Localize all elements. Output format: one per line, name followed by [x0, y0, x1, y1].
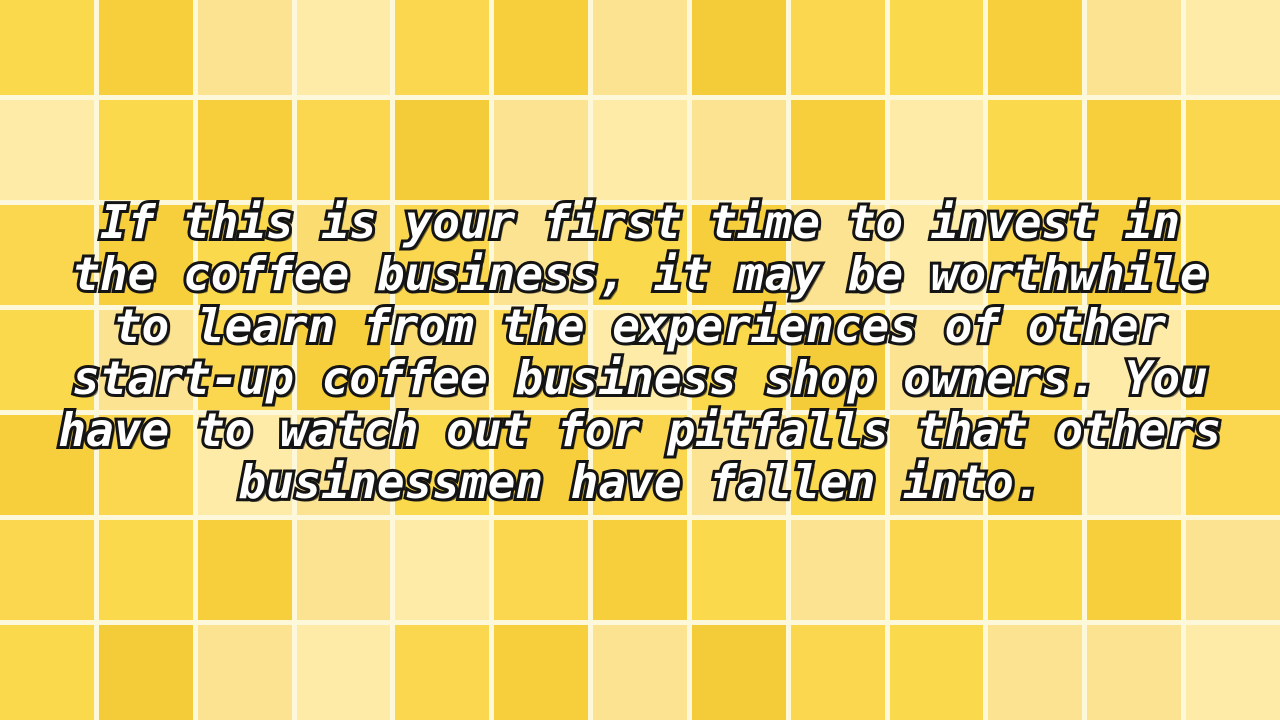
- mosaic-tile: [593, 0, 687, 95]
- mosaic-tile: [198, 0, 292, 95]
- mosaic-tile: [593, 415, 687, 515]
- mosaic-tile: [395, 625, 489, 720]
- mosaic-tile: [1186, 100, 1280, 200]
- mosaic-tile: [791, 310, 885, 410]
- mosaic-tile: [494, 310, 588, 410]
- mosaic-tile: [988, 520, 1082, 620]
- mosaic-tile: [791, 0, 885, 95]
- mosaic-tile: [494, 415, 588, 515]
- mosaic-tile: [297, 0, 391, 95]
- mosaic-tile: [988, 415, 1082, 515]
- mosaic-tile: [791, 100, 885, 200]
- mosaic-tile: [99, 100, 193, 200]
- mosaic-tile: [395, 415, 489, 515]
- mosaic-tile: [297, 205, 391, 305]
- mosaic-tile: [890, 100, 984, 200]
- mosaic-tile: [692, 0, 786, 95]
- mosaic-tile: [988, 100, 1082, 200]
- mosaic-tile: [99, 205, 193, 305]
- mosaic-tile: [988, 0, 1082, 95]
- mosaic-tile: [988, 625, 1082, 720]
- mosaic-tile: [593, 310, 687, 410]
- mosaic-tile: [890, 205, 984, 305]
- mosaic-tile: [297, 520, 391, 620]
- mosaic-tile: [1087, 100, 1181, 200]
- mosaic-tile: [791, 415, 885, 515]
- mosaic-tile: [692, 520, 786, 620]
- mosaic-tile: [494, 0, 588, 95]
- mosaic-tile: [791, 205, 885, 305]
- mosaic-tile: [1087, 625, 1181, 720]
- mosaic-tile: [395, 520, 489, 620]
- mosaic-tile: [692, 310, 786, 410]
- mosaic-tile: [99, 0, 193, 95]
- mosaic-tile: [0, 205, 94, 305]
- mosaic-tile: [297, 625, 391, 720]
- mosaic-tile: [791, 520, 885, 620]
- mosaic-tile: [99, 625, 193, 720]
- mosaic-tile: [297, 310, 391, 410]
- mosaic-tile: [1186, 0, 1280, 95]
- mosaic-tile: [198, 520, 292, 620]
- mosaic-tile: [395, 0, 489, 95]
- mosaic-tile: [1087, 0, 1181, 95]
- mosaic-tile: [1087, 520, 1181, 620]
- mosaic-tile: [593, 625, 687, 720]
- tip-card: If this is your first time to invest in …: [0, 0, 1280, 720]
- mosaic-tile: [1186, 520, 1280, 620]
- mosaic-tile: [692, 625, 786, 720]
- mosaic-tile: [1186, 625, 1280, 720]
- mosaic-tile: [198, 205, 292, 305]
- mosaic-tile: [395, 310, 489, 410]
- tile-mosaic-background: [0, 0, 1280, 720]
- mosaic-tile: [0, 0, 94, 95]
- mosaic-tile: [1087, 415, 1181, 515]
- mosaic-tile: [297, 415, 391, 515]
- mosaic-tile: [395, 100, 489, 200]
- mosaic-tile: [198, 310, 292, 410]
- mosaic-tile: [890, 0, 984, 95]
- mosaic-tile: [494, 100, 588, 200]
- mosaic-tile: [198, 415, 292, 515]
- mosaic-tile: [1186, 415, 1280, 515]
- mosaic-tile: [593, 205, 687, 305]
- mosaic-tile: [692, 100, 786, 200]
- mosaic-tile: [99, 415, 193, 515]
- mosaic-tile: [791, 625, 885, 720]
- mosaic-tile: [0, 310, 94, 410]
- mosaic-tile: [99, 520, 193, 620]
- mosaic-tile: [890, 520, 984, 620]
- mosaic-tile: [395, 205, 489, 305]
- mosaic-tile: [0, 625, 94, 720]
- mosaic-tile: [988, 205, 1082, 305]
- mosaic-tile: [99, 310, 193, 410]
- mosaic-tile: [198, 100, 292, 200]
- mosaic-tile: [0, 415, 94, 515]
- mosaic-tile: [297, 100, 391, 200]
- mosaic-tile: [593, 520, 687, 620]
- mosaic-tile: [1186, 205, 1280, 305]
- mosaic-tile: [1087, 310, 1181, 410]
- mosaic-tile: [198, 625, 292, 720]
- mosaic-tile: [494, 520, 588, 620]
- mosaic-tile: [890, 625, 984, 720]
- mosaic-tile: [0, 100, 94, 200]
- mosaic-tile: [593, 100, 687, 200]
- mosaic-tile: [890, 310, 984, 410]
- mosaic-tile: [1186, 310, 1280, 410]
- mosaic-tile: [692, 205, 786, 305]
- mosaic-tile: [1087, 205, 1181, 305]
- mosaic-tile: [494, 625, 588, 720]
- mosaic-tile: [988, 310, 1082, 410]
- mosaic-tile: [0, 520, 94, 620]
- mosaic-tile: [494, 205, 588, 305]
- mosaic-tile: [692, 415, 786, 515]
- mosaic-tile: [890, 415, 984, 515]
